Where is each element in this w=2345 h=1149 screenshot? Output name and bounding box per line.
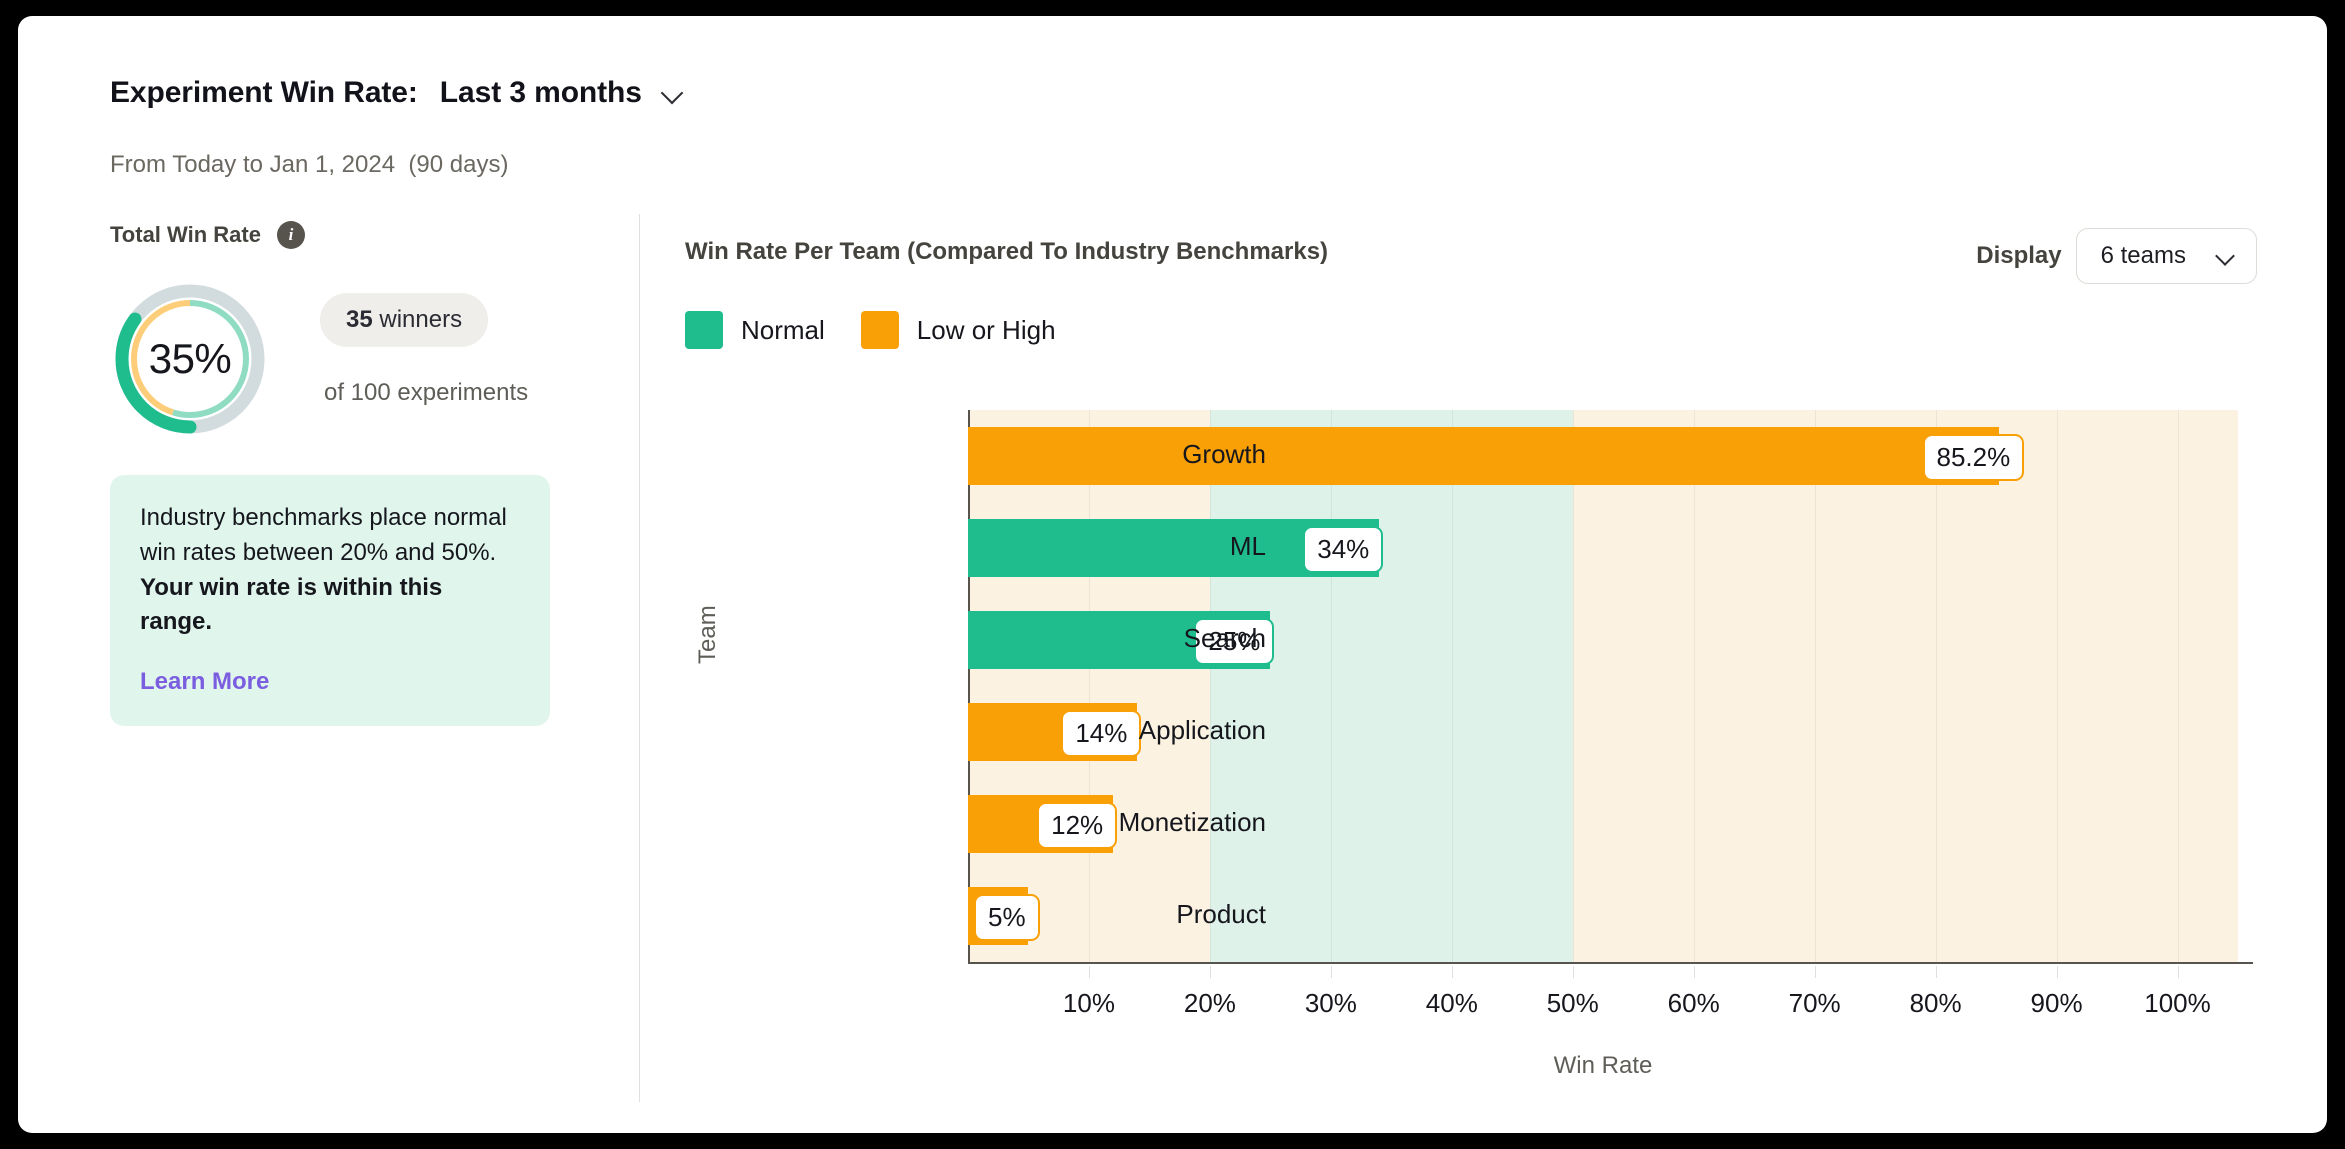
bar-value-label: 34% — [1303, 526, 1383, 573]
x-axis-tick — [1936, 966, 1937, 978]
info-icon[interactable]: i — [277, 221, 305, 249]
display-control: Display 6 teams — [1976, 228, 2257, 284]
x-axis-tick-label: 60% — [1668, 988, 1720, 1019]
y-axis-category-label: Growth — [1182, 439, 1266, 470]
title-row: Experiment Win Rate: Last 3 months — [110, 76, 686, 110]
y-axis-category-label: Search — [1184, 623, 1266, 654]
date-range-value[interactable]: Last 3 months — [440, 76, 642, 110]
app-window: Experiment Win Rate: Last 3 months From … — [18, 16, 2327, 1133]
x-axis-tick-label: 70% — [1789, 988, 1841, 1019]
x-axis-tick — [1573, 966, 1574, 978]
x-axis-tick-label: 40% — [1426, 988, 1478, 1019]
panel-divider — [639, 214, 640, 1102]
x-axis-line — [968, 962, 2253, 964]
display-label: Display — [1976, 242, 2061, 270]
gauge-row: 35% 35 winners of 100 experiments — [110, 279, 630, 439]
page-header: Experiment Win Rate: Last 3 months — [110, 76, 686, 110]
x-axis-tick — [1210, 966, 1211, 978]
winners-label: winners — [373, 306, 462, 333]
legend-label: Normal — [741, 315, 825, 346]
x-axis-tick-label: 100% — [2144, 988, 2211, 1019]
learn-more-link[interactable]: Learn More — [140, 668, 269, 696]
bar-value-label: 12% — [1037, 802, 1117, 849]
legend-swatch-icon — [685, 311, 723, 349]
benchmark-band — [1573, 410, 2238, 962]
legend-item[interactable]: Normal — [685, 311, 825, 349]
total-win-rate-header: Total Win Rate i — [110, 221, 630, 249]
x-axis-tick — [1694, 966, 1695, 978]
x-axis-tick-label: 50% — [1547, 988, 1599, 1019]
x-axis-tick-label: 30% — [1305, 988, 1357, 1019]
x-axis-tick — [1452, 966, 1453, 978]
x-axis-tick-label: 80% — [1910, 988, 1962, 1019]
total-win-rate-label: Total Win Rate — [110, 222, 261, 248]
y-axis-title: Team — [694, 605, 722, 664]
gridline — [1452, 410, 1453, 962]
benchmark-note-bold: Your win rate is within this range. — [140, 574, 442, 636]
gridline — [1694, 410, 1695, 962]
benchmark-note-text: Industry benchmarks place normal win rat… — [140, 501, 520, 640]
x-axis-tick — [1815, 966, 1816, 978]
benchmark-band — [1210, 410, 1573, 962]
teams-count-value: 6 teams — [2101, 242, 2186, 270]
bar-chart-plot: Win Rate 10%20%30%40%50%60%70%80%90%100%… — [968, 410, 2238, 962]
x-axis-title: Win Rate — [1554, 1052, 1653, 1080]
y-axis-category-label: ML — [1230, 531, 1266, 562]
bar[interactable] — [968, 427, 1999, 485]
y-axis-line — [968, 410, 970, 962]
of-experiments-text: of 100 experiments — [324, 379, 528, 407]
y-axis-category-label: Application — [1139, 715, 1266, 746]
date-range-subtitle: From Today to Jan 1, 2024 (90 days) — [110, 151, 508, 179]
gridline — [1210, 410, 1211, 962]
chevron-down-icon[interactable] — [660, 80, 686, 106]
winners-badge: 35 winners — [320, 293, 488, 347]
x-axis-tick-label: 10% — [1063, 988, 1115, 1019]
gauge-value-text: 35% — [110, 279, 270, 439]
winners-count: 35 — [346, 306, 373, 333]
gridline — [1089, 410, 1090, 962]
chart-legend: NormalLow or High — [685, 311, 1056, 349]
x-axis-tick — [1331, 966, 1332, 978]
legend-label: Low or High — [917, 315, 1056, 346]
gridline — [2178, 410, 2179, 962]
x-axis-tick — [2057, 966, 2058, 978]
y-axis-category-label: Monetization — [1119, 807, 1266, 838]
gridline — [1936, 410, 1937, 962]
bar-value-label: 85.2% — [1923, 434, 2025, 481]
gridline — [1815, 410, 1816, 962]
x-axis-tick — [2178, 966, 2179, 978]
teams-count-select[interactable]: 6 teams — [2076, 228, 2257, 284]
bar-value-label: 14% — [1061, 710, 1141, 757]
chart-title: Win Rate Per Team (Compared To Industry … — [685, 238, 1328, 266]
page-title: Experiment Win Rate: — [110, 76, 418, 110]
legend-swatch-icon — [861, 311, 899, 349]
gridline — [1331, 410, 1332, 962]
x-axis-tick-label: 20% — [1184, 988, 1236, 1019]
total-win-rate-panel: Total Win Rate i 35% 35 winners of 100 e… — [110, 221, 630, 726]
chevron-down-icon — [2216, 246, 2236, 266]
gridline — [1573, 410, 1574, 962]
x-axis-tick-label: 90% — [2031, 988, 2083, 1019]
gridline — [2057, 410, 2058, 962]
legend-item[interactable]: Low or High — [861, 311, 1056, 349]
y-axis-category-label: Product — [1176, 899, 1266, 930]
benchmark-note-plain: Industry benchmarks place normal win rat… — [140, 504, 507, 566]
bar-value-label: 5% — [974, 894, 1040, 941]
x-axis-tick — [1089, 966, 1090, 978]
benchmark-note-box: Industry benchmarks place normal win rat… — [110, 475, 550, 726]
